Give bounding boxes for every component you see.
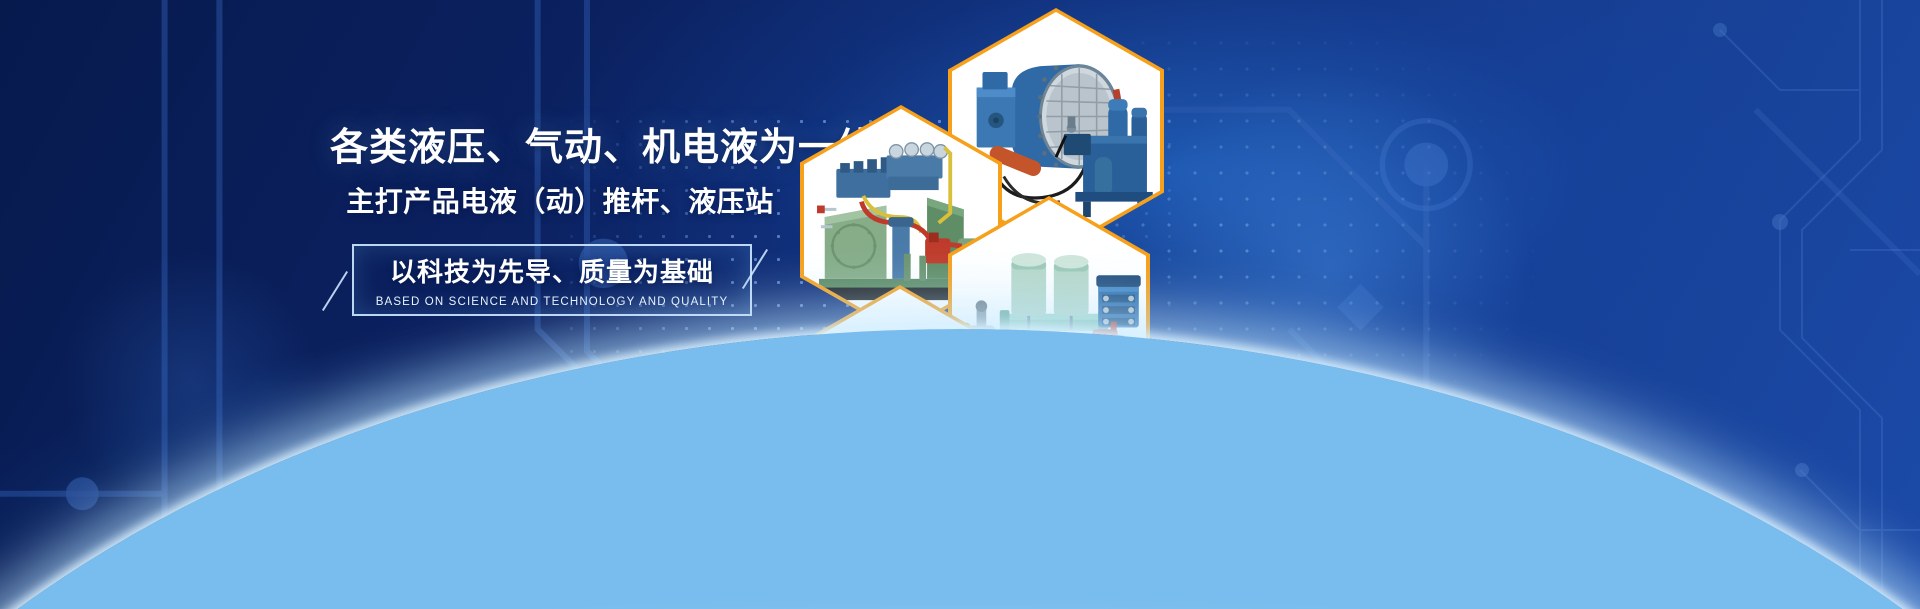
headline-secondary: 主打产品电液（动）推杆、液压站 <box>330 185 790 219</box>
slogan-group: 以科技为先导、质量为基础 BASED ON SCIENCE AND TECHNO… <box>330 244 790 316</box>
slogan-chinese: 以科技为先导、质量为基础 <box>390 252 714 289</box>
hero-banner: 各类液压、气动、机电液为一体 主打产品电液（动）推杆、液压站 以科技为先导、质量… <box>0 0 1920 609</box>
slogan-box: 以科技为先导、质量为基础 BASED ON SCIENCE AND TECHNO… <box>352 244 752 316</box>
slogan-english: BASED ON SCIENCE AND TECHNOLOGY AND QUAL… <box>376 296 729 308</box>
headline-primary: 各类液压、气动、机电液为一体 <box>330 126 790 171</box>
banner-text-block: 各类液压、气动、机电液为一体 主打产品电液（动）推杆、液压站 以科技为先导、质量… <box>330 126 790 316</box>
